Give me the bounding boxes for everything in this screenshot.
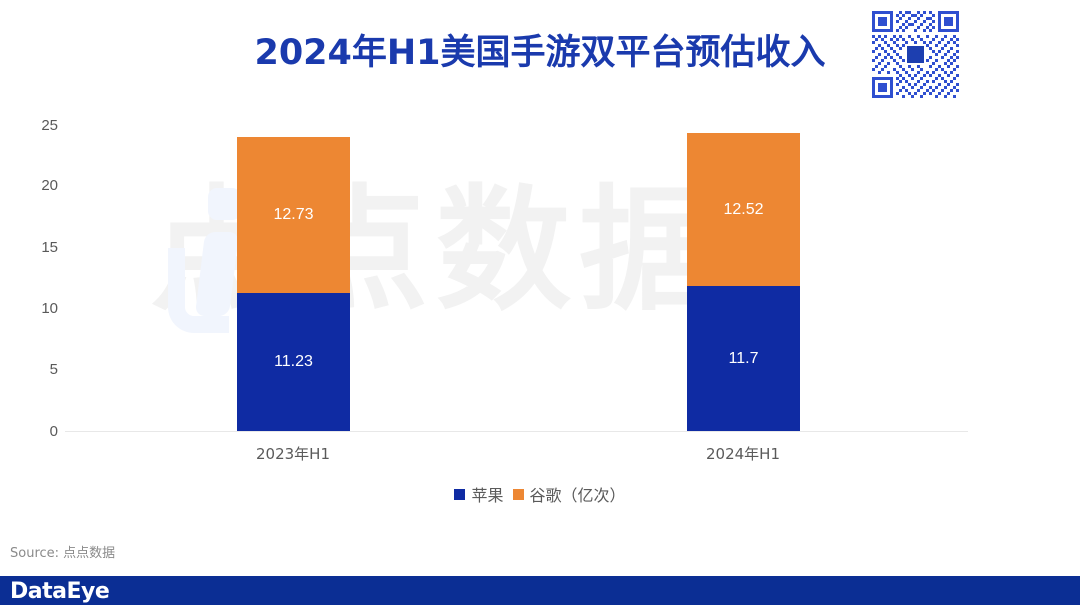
- y-tick-15: 15: [18, 239, 58, 256]
- legend-label-apple: 苹果: [471, 482, 503, 506]
- chart-legend: 苹果 谷歌（亿次）: [0, 482, 1080, 506]
- bar-2023-apple-value: 11.23: [274, 353, 313, 371]
- x-category-label-2024: 2024年H1: [643, 443, 843, 464]
- bar-2024-apple-value: 11.7: [729, 350, 759, 368]
- legend-item-apple[interactable]: 苹果: [454, 482, 503, 506]
- bar-2023-apple-segment[interactable]: 11.23: [237, 293, 350, 431]
- y-tick-20: 20: [18, 177, 58, 194]
- dataeye-logo: DataEye: [10, 579, 109, 604]
- y-tick-0: 0: [18, 423, 58, 440]
- y-tick-25: 25: [18, 117, 58, 134]
- bar-2024-apple-segment[interactable]: 11.7: [687, 286, 800, 431]
- dataeye-qr-code[interactable]: [869, 8, 962, 101]
- footer-bar: DataEye: [0, 576, 1080, 605]
- bar-2023-google-segment[interactable]: 12.73: [237, 137, 350, 293]
- y-tick-10: 10: [18, 300, 58, 317]
- legend-swatch-apple: [454, 489, 465, 500]
- bar-2024-google-value: 12.52: [723, 201, 763, 219]
- legend-swatch-google: [513, 489, 524, 500]
- x-category-label-2023: 2023年H1: [193, 443, 393, 464]
- legend-label-google: 谷歌（亿次）: [530, 482, 626, 506]
- x-axis-line: [65, 431, 968, 432]
- source-text: Source: 点点数据: [10, 542, 115, 561]
- qr-code-icon: [869, 8, 962, 101]
- legend-item-google[interactable]: 谷歌（亿次）: [513, 482, 626, 506]
- y-tick-5: 5: [18, 361, 58, 378]
- bar-2024-google-segment[interactable]: 12.52: [687, 133, 800, 286]
- bar-2023-google-value: 12.73: [273, 206, 313, 224]
